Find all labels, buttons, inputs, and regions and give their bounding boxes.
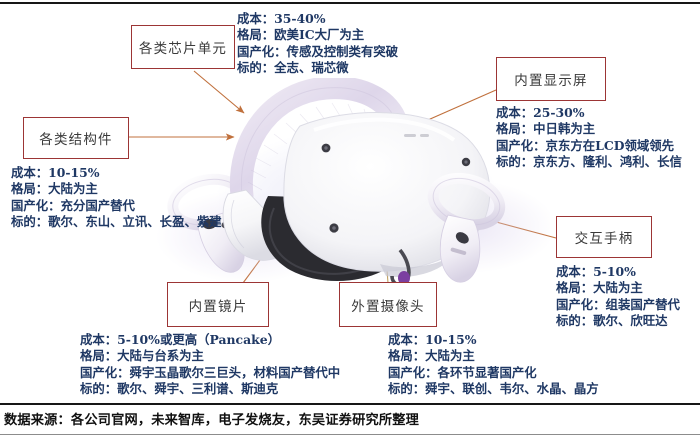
figure-canvas: 各类芯片单元 各类结构件 内置显示屏 交互手柄 内置镜片 外置摄像头 成本：35…: [0, 0, 700, 437]
label-box-camera[interactable]: 外置摄像头: [339, 282, 437, 327]
spec-line: 格局：大陆为主: [556, 280, 680, 296]
label-lens: 内置镜片: [189, 295, 248, 315]
spec-line: 成本：35-40%: [237, 11, 398, 27]
spec-line: 国产化：组装国产替代: [556, 297, 680, 313]
label-camera: 外置摄像头: [351, 295, 425, 315]
spec-line: 标的：歌尔、欣旺达: [556, 313, 680, 329]
spec-line: 成本：25-30%: [496, 105, 682, 121]
spec-line: 国产化：舜宇玉晶歌尔三巨头，材料国产替代中: [80, 365, 340, 381]
label-display: 内置显示屏: [514, 69, 588, 89]
label-box-chips[interactable]: 各类芯片单元: [131, 25, 235, 69]
spec-line: 国产化：各环节显著国产化: [388, 365, 599, 381]
spec-line: 国产化：传感及控制类有突破: [237, 44, 398, 60]
spec-block-chips: 成本：35-40% 格局：欧美IC大厂为主 国产化：传感及控制类有突破 标的：全…: [237, 11, 398, 77]
label-controller: 交互手柄: [575, 227, 634, 247]
spec-block-camera: 成本：10-15% 格局：大陆为主 国产化：各环节显著国产化 标的：舜宇、联创、…: [388, 332, 599, 398]
footer-rule-top: [0, 403, 700, 405]
spec-line: 标的：京东方、隆利、鸿利、长信: [496, 154, 682, 170]
spec-line: 国产化：充分国产替代: [11, 198, 222, 214]
label-box-lens[interactable]: 内置镜片: [167, 282, 269, 327]
spec-block-display: 成本：25-30% 格局：中日韩为主 国产化：京东方在LCD领域领先 标的：京东…: [496, 105, 682, 171]
spec-line: 格局：中日韩为主: [496, 121, 682, 137]
label-box-display[interactable]: 内置显示屏: [496, 57, 606, 101]
spec-line: 国产化：京东方在LCD领域领先: [496, 138, 682, 154]
spec-block-structure: 成本：10-15% 格局：大陆为主 国产化：充分国产替代 标的：歌尔、东山、立讯…: [11, 165, 222, 231]
spec-block-controller: 成本：5-10% 格局：大陆为主 国产化：组装国产替代 标的：歌尔、欣旺达: [556, 264, 680, 330]
spec-line: 格局：欧美IC大厂为主: [237, 27, 398, 43]
spec-line: 格局：大陆为主: [388, 348, 599, 364]
spec-line: 格局：大陆与台系为主: [80, 348, 340, 364]
top-rule: [0, 2, 700, 4]
label-chips: 各类芯片单元: [139, 37, 227, 57]
footer-rule-bottom: [0, 434, 700, 435]
spec-line: 成本：10-15%: [388, 332, 599, 348]
source-note: 数据来源：各公司官网，未来智库，电子发烧友，东吴证券研究所整理: [4, 409, 419, 428]
spec-line: 标的：歌尔、舜宇、三利谱、斯迪克: [80, 381, 340, 397]
label-box-structure[interactable]: 各类结构件: [23, 117, 129, 159]
spec-line: 成本：5-10%或更高（Pancake）: [80, 332, 340, 348]
spec-line: 标的：全志、瑞芯微: [237, 60, 398, 76]
spec-line: 标的：歌尔、东山、立讯、长盈、紫建: [11, 214, 222, 230]
spec-line: 成本：5-10%: [556, 264, 680, 280]
spec-line: 成本：10-15%: [11, 165, 222, 181]
spec-block-lens: 成本：5-10%或更高（Pancake） 格局：大陆与台系为主 国产化：舜宇玉晶…: [80, 332, 340, 398]
label-box-controller[interactable]: 交互手柄: [556, 216, 652, 258]
label-structure: 各类结构件: [39, 128, 113, 148]
spec-line: 格局：大陆为主: [11, 181, 222, 197]
spec-line: 标的：舜宇、联创、韦尔、水晶、晶方: [388, 381, 599, 397]
